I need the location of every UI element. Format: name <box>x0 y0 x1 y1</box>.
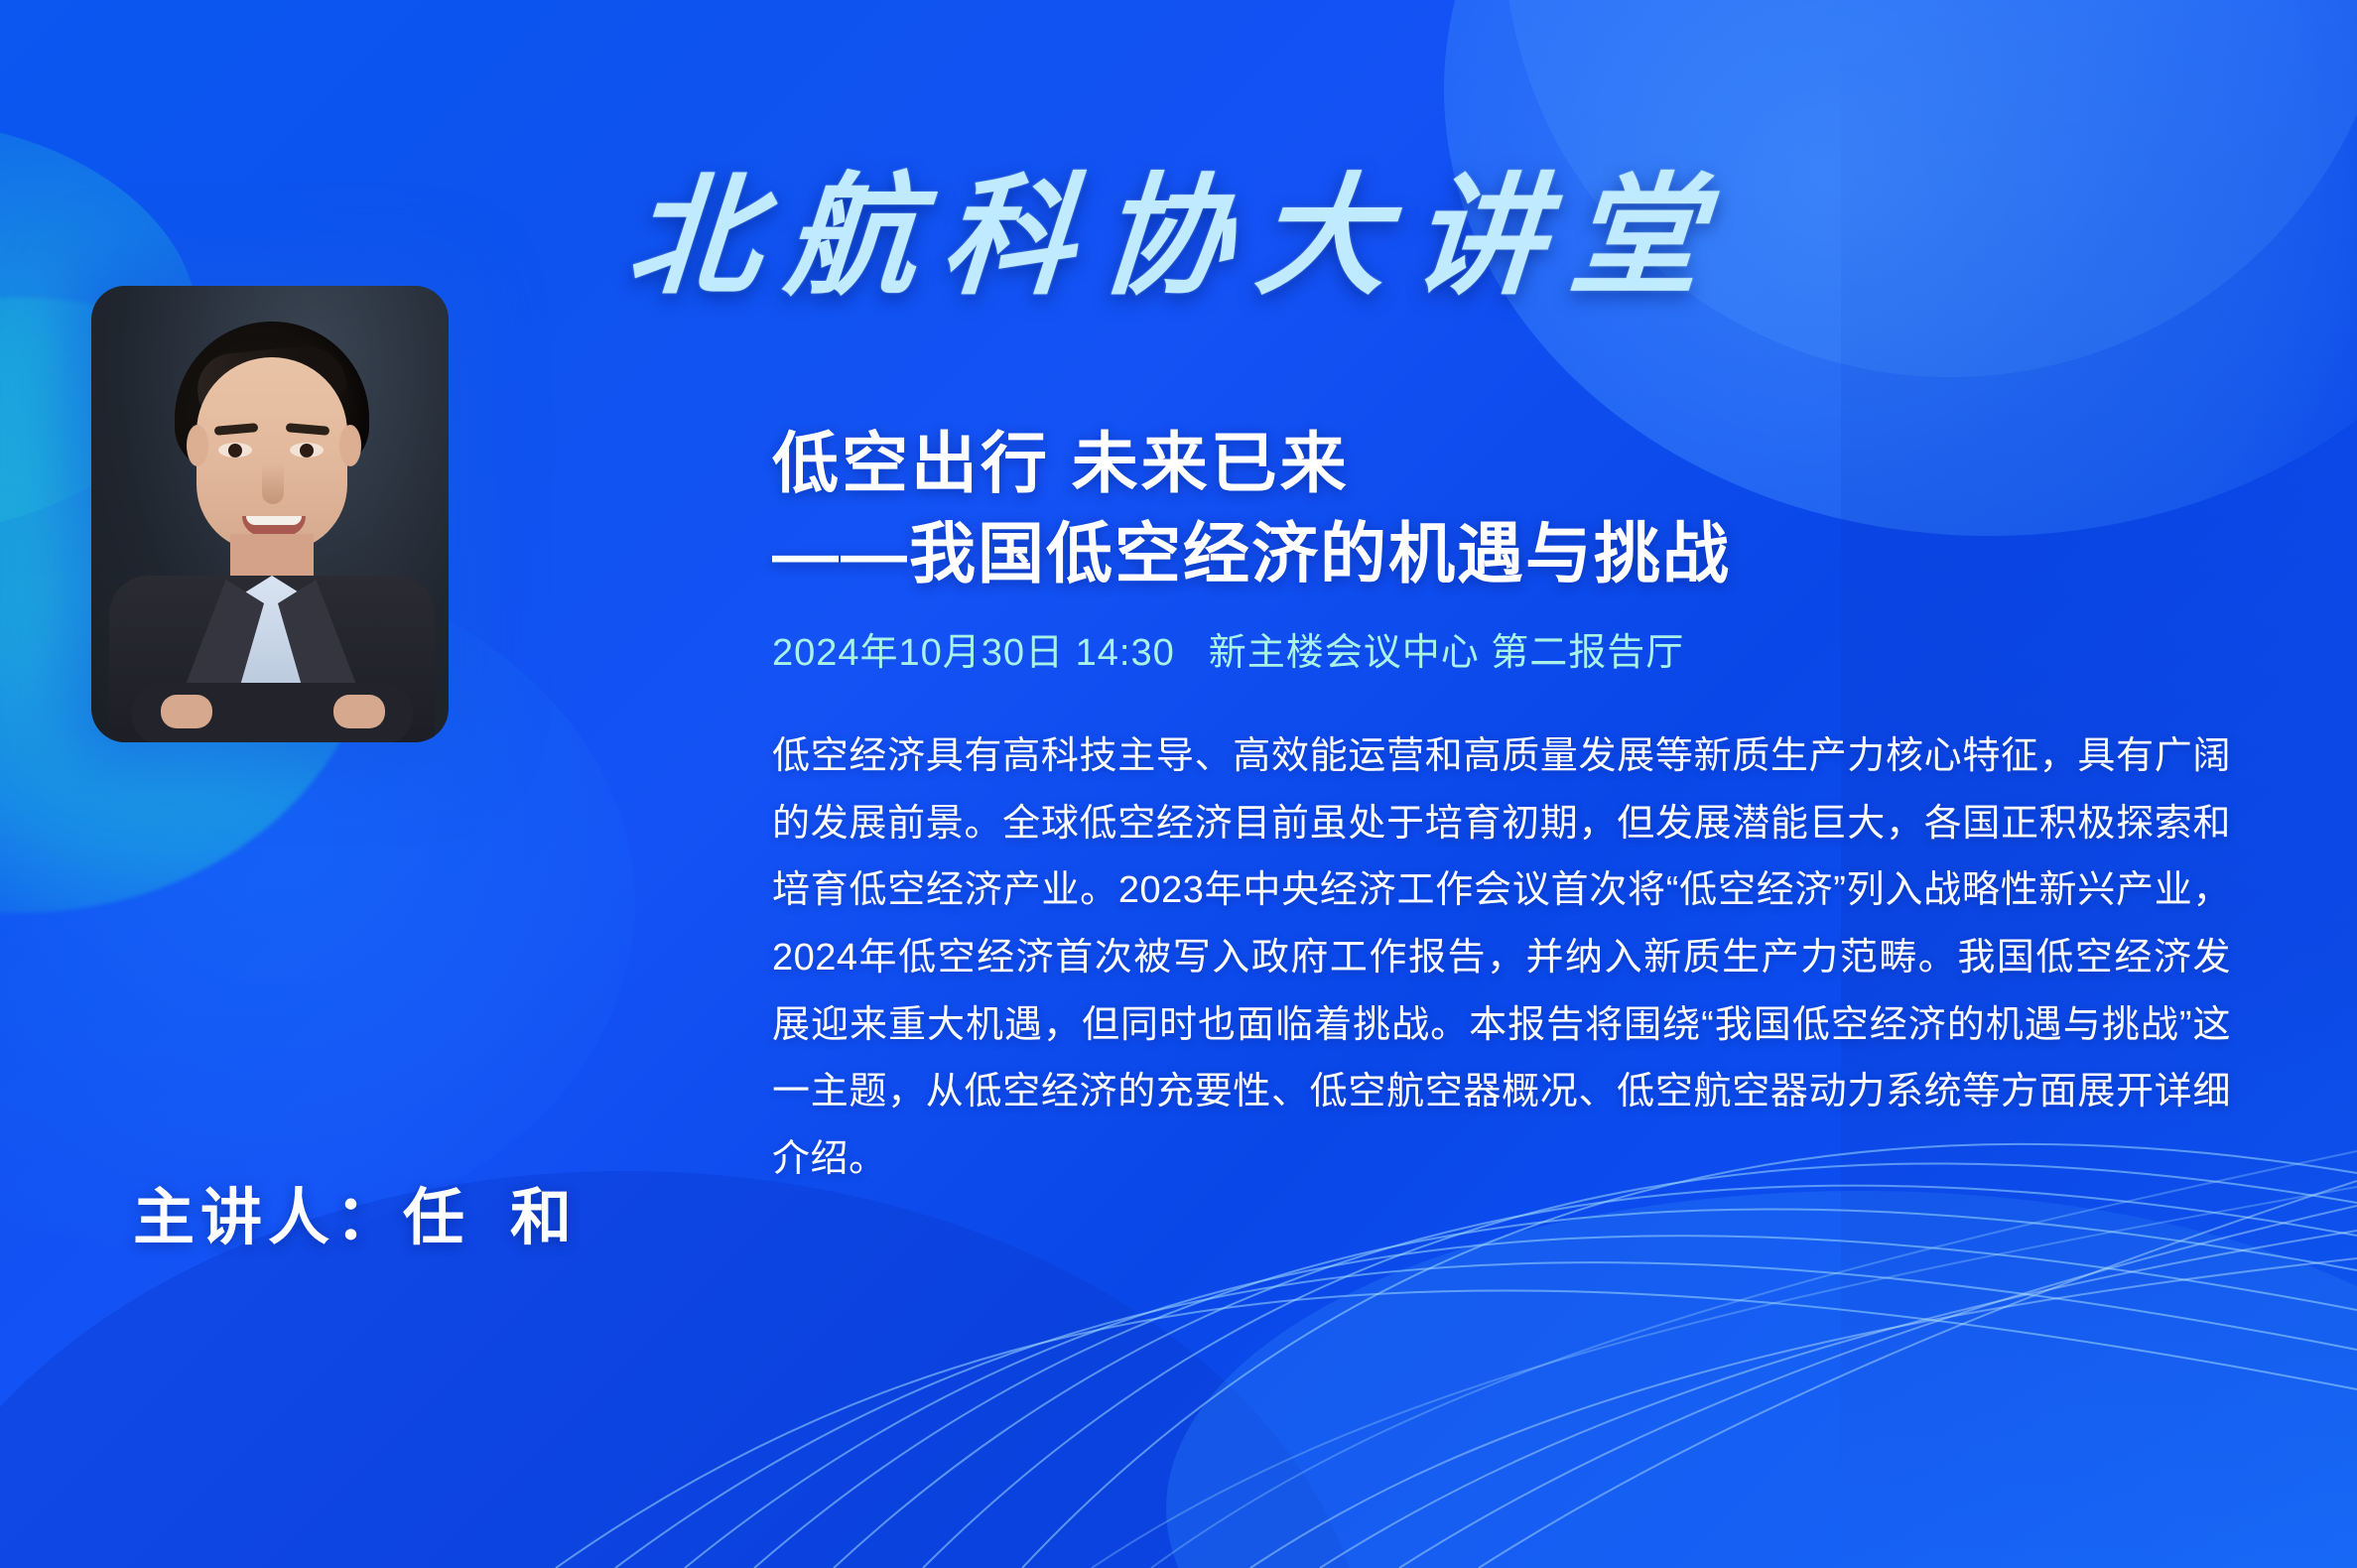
photo-eye-right <box>290 443 324 457</box>
speaker-name: 主讲人：任和 <box>107 1167 603 1256</box>
lecture-meta: 2024年10月30日 14:30新主楼会议中心 第二报告厅 <box>772 621 2241 676</box>
lecture-venue: 新主楼会议中心 第二报告厅 <box>1209 632 1685 674</box>
speaker-label: 主讲人： <box>133 1184 403 1252</box>
lecture-title-line-1: 低空出行 未来已来 <box>772 427 2241 501</box>
photo-ear-left <box>187 425 208 466</box>
lecture-title-line-2: ——我国低空经济的机遇与挑战 <box>772 515 2241 593</box>
photo-ear-right <box>339 425 361 466</box>
photo-hand-right <box>333 695 385 728</box>
lecture-abstract: 低空经济具有高科技主导、高效能运营和高质量发展等新质生产力核心特征，具有广阔的发… <box>772 723 2231 1193</box>
speaker-photo-frame <box>91 286 449 742</box>
photo-eye-left <box>218 443 252 457</box>
avatar <box>91 286 449 742</box>
lecture-info-panel: 低空出行 未来已来 ——我国低空经济的机遇与挑战 2024年10月30日 14:… <box>772 427 2241 1193</box>
photo-mouth <box>242 516 306 536</box>
poster-canvas: 北航科协大讲堂 主讲人：任和 低空出行 未来已来 <box>0 0 2357 1568</box>
speaker-given-2: 和 <box>510 1184 578 1252</box>
bottom-right-wave <box>1166 1191 2357 1568</box>
photo-hand-left <box>161 695 212 728</box>
photo-nose <box>262 462 284 504</box>
lecture-datetime: 2024年10月30日 14:30 <box>772 632 1175 674</box>
speaker-given-1: 任 <box>403 1184 470 1252</box>
